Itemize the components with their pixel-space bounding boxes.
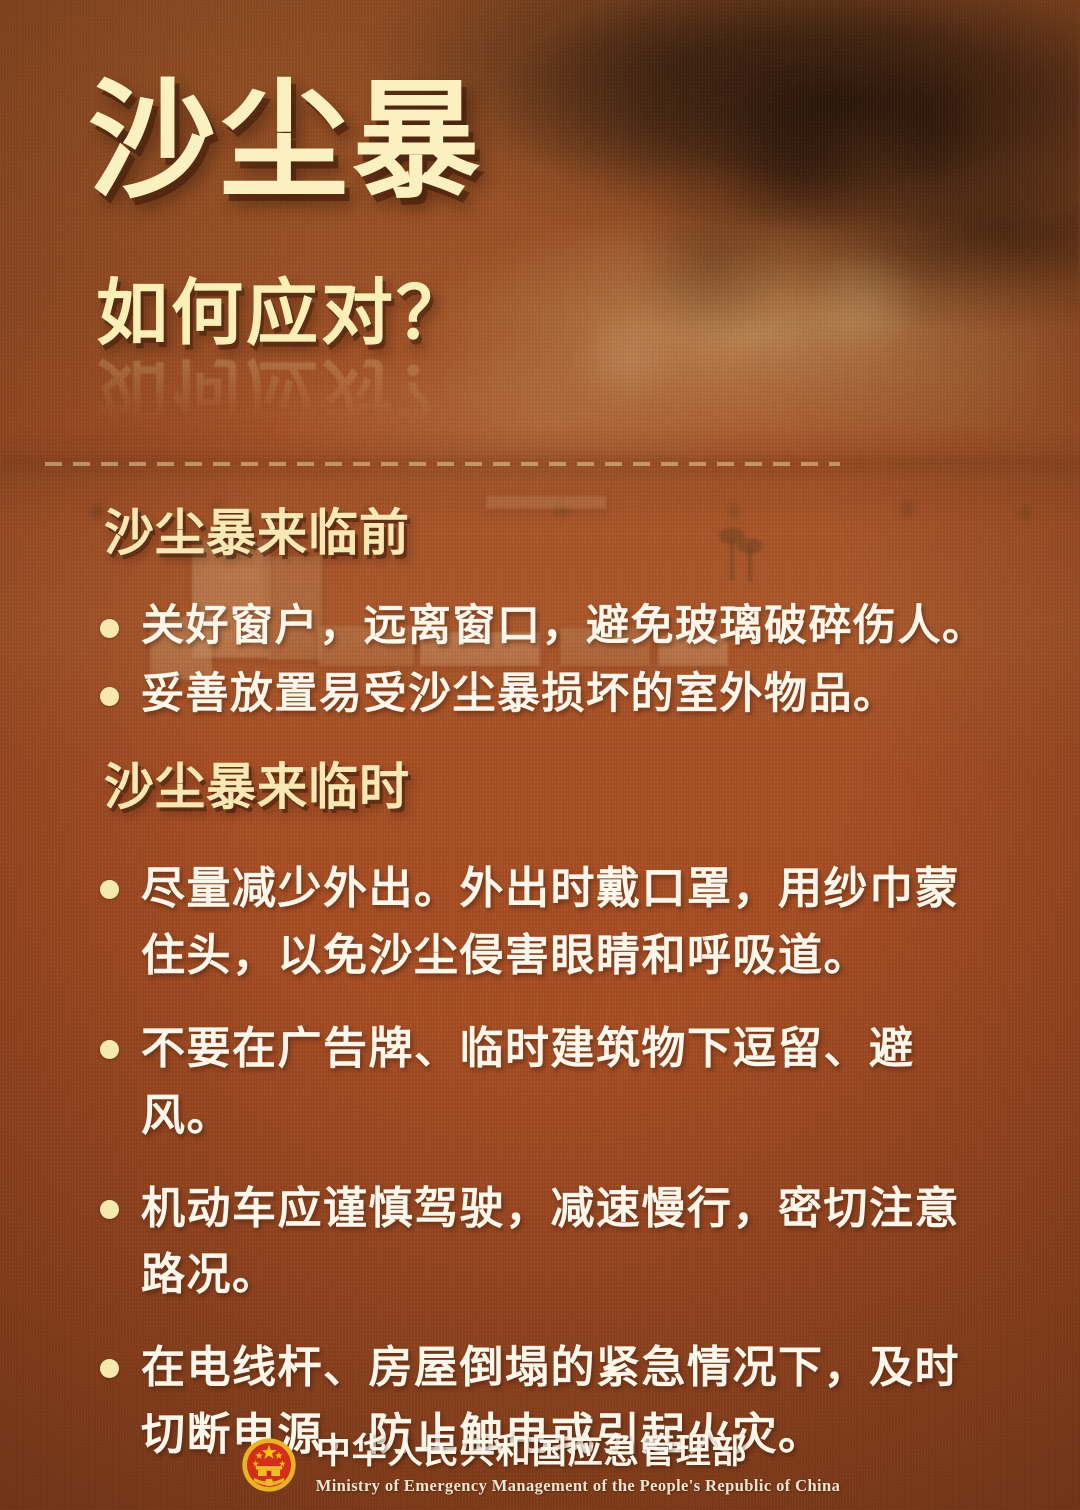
building (486, 496, 606, 509)
subtitle-reflection: 如何应对？ (96, 354, 471, 426)
sandstorm-safety-poster: 沙尘暴 如何应对？ 如何应对？ 沙尘暴来临前 关好窗户，远离窗口，避免玻璃破碎伤… (0, 0, 1080, 1510)
organization-name-en: Ministry of Emergency Management of the … (316, 1476, 841, 1496)
list-item: 关好窗户，远离窗口，避免玻璃破碎伤人。 (100, 598, 1000, 656)
bullet-dot-icon (100, 880, 119, 899)
palm-tree (748, 548, 752, 582)
footer-text-block: 中华人民共和国应急管理部 Ministry of Emergency Manag… (316, 1434, 841, 1496)
tips-list-during: 尽量减少外出。外出时戴口罩，用纱巾蒙住头，以免沙尘侵害眼睛和呼吸道。 不要在广告… (100, 856, 1000, 1495)
dashed-divider (45, 462, 840, 466)
list-item-text: 不要在广告牌、临时建筑物下逗留、避风。 (141, 1016, 1000, 1150)
list-item: 妥善放置易受沙尘暴损坏的室外物品。 (100, 666, 1000, 724)
organization-name-cn: 中华人民共和国应急管理部 (316, 1434, 841, 1471)
list-item-text: 机动车应谨慎驾驶，减速慢行，密切注意路况。 (141, 1176, 1000, 1310)
page-title: 沙尘暴 (88, 78, 484, 206)
list-item: 不要在广告牌、临时建筑物下逗留、避风。 (100, 1016, 1000, 1150)
list-item: 尽量减少外出。外出时戴口罩，用纱巾蒙住头，以免沙尘侵害眼睛和呼吸道。 (100, 856, 1000, 990)
page-subtitle: 如何应对？ (96, 278, 471, 350)
subtitle-block: 如何应对？ 如何应对？ (96, 278, 471, 426)
national-emblem-icon (240, 1436, 298, 1494)
bullet-dot-icon (100, 619, 119, 638)
bullet-dot-icon (100, 1200, 119, 1219)
section-heading-before: 沙尘暴来临前 (104, 508, 410, 558)
list-item-text: 妥善放置易受沙尘暴损坏的室外物品。 (141, 666, 1000, 724)
list-item: 机动车应谨慎驾驶，减速慢行，密切注意路况。 (100, 1176, 1000, 1310)
tips-list-before: 关好窗户，远离窗口，避免玻璃破碎伤人。 妥善放置易受沙尘暴损坏的室外物品。 (100, 598, 1000, 733)
list-item-text: 尽量减少外出。外出时戴口罩，用纱巾蒙住头，以免沙尘侵害眼睛和呼吸道。 (141, 856, 1000, 990)
list-item-text: 关好窗户，远离窗口，避免玻璃破碎伤人。 (141, 598, 1000, 656)
bullet-dot-icon (100, 687, 119, 706)
bullet-dot-icon (100, 1040, 119, 1059)
bullet-dot-icon (100, 1359, 119, 1378)
palm-tree (730, 538, 734, 580)
section-heading-during: 沙尘暴来临时 (104, 762, 410, 812)
footer: 中华人民共和国应急管理部 Ministry of Emergency Manag… (0, 1434, 1080, 1496)
